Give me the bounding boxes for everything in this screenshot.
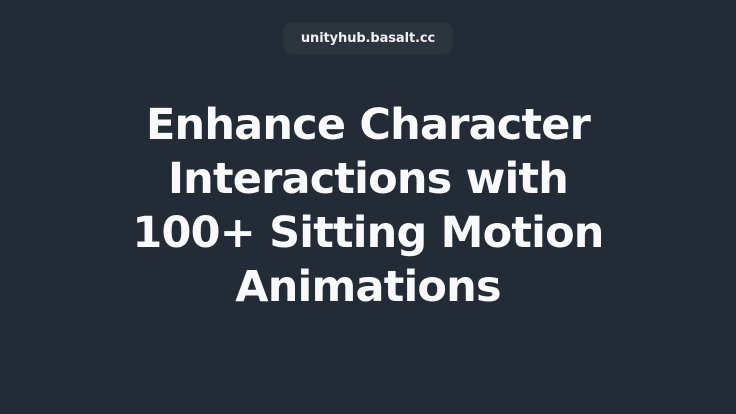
url-badge[interactable]: unityhub.basalt.cc [283, 22, 453, 54]
promo-card: unityhub.basalt.cc Enhance Character Int… [0, 0, 736, 414]
page-title: Enhance Character Interactions with 100+… [48, 98, 688, 314]
url-badge-label: unityhub.basalt.cc [301, 32, 435, 45]
page-title-line-4: Animations [48, 260, 688, 314]
page-title-line-1: Enhance Character [48, 98, 688, 152]
page-title-line-2: Interactions with [48, 152, 688, 206]
url-badge-container: unityhub.basalt.cc [0, 22, 736, 54]
page-title-line-3: 100+ Sitting Motion [48, 206, 688, 260]
